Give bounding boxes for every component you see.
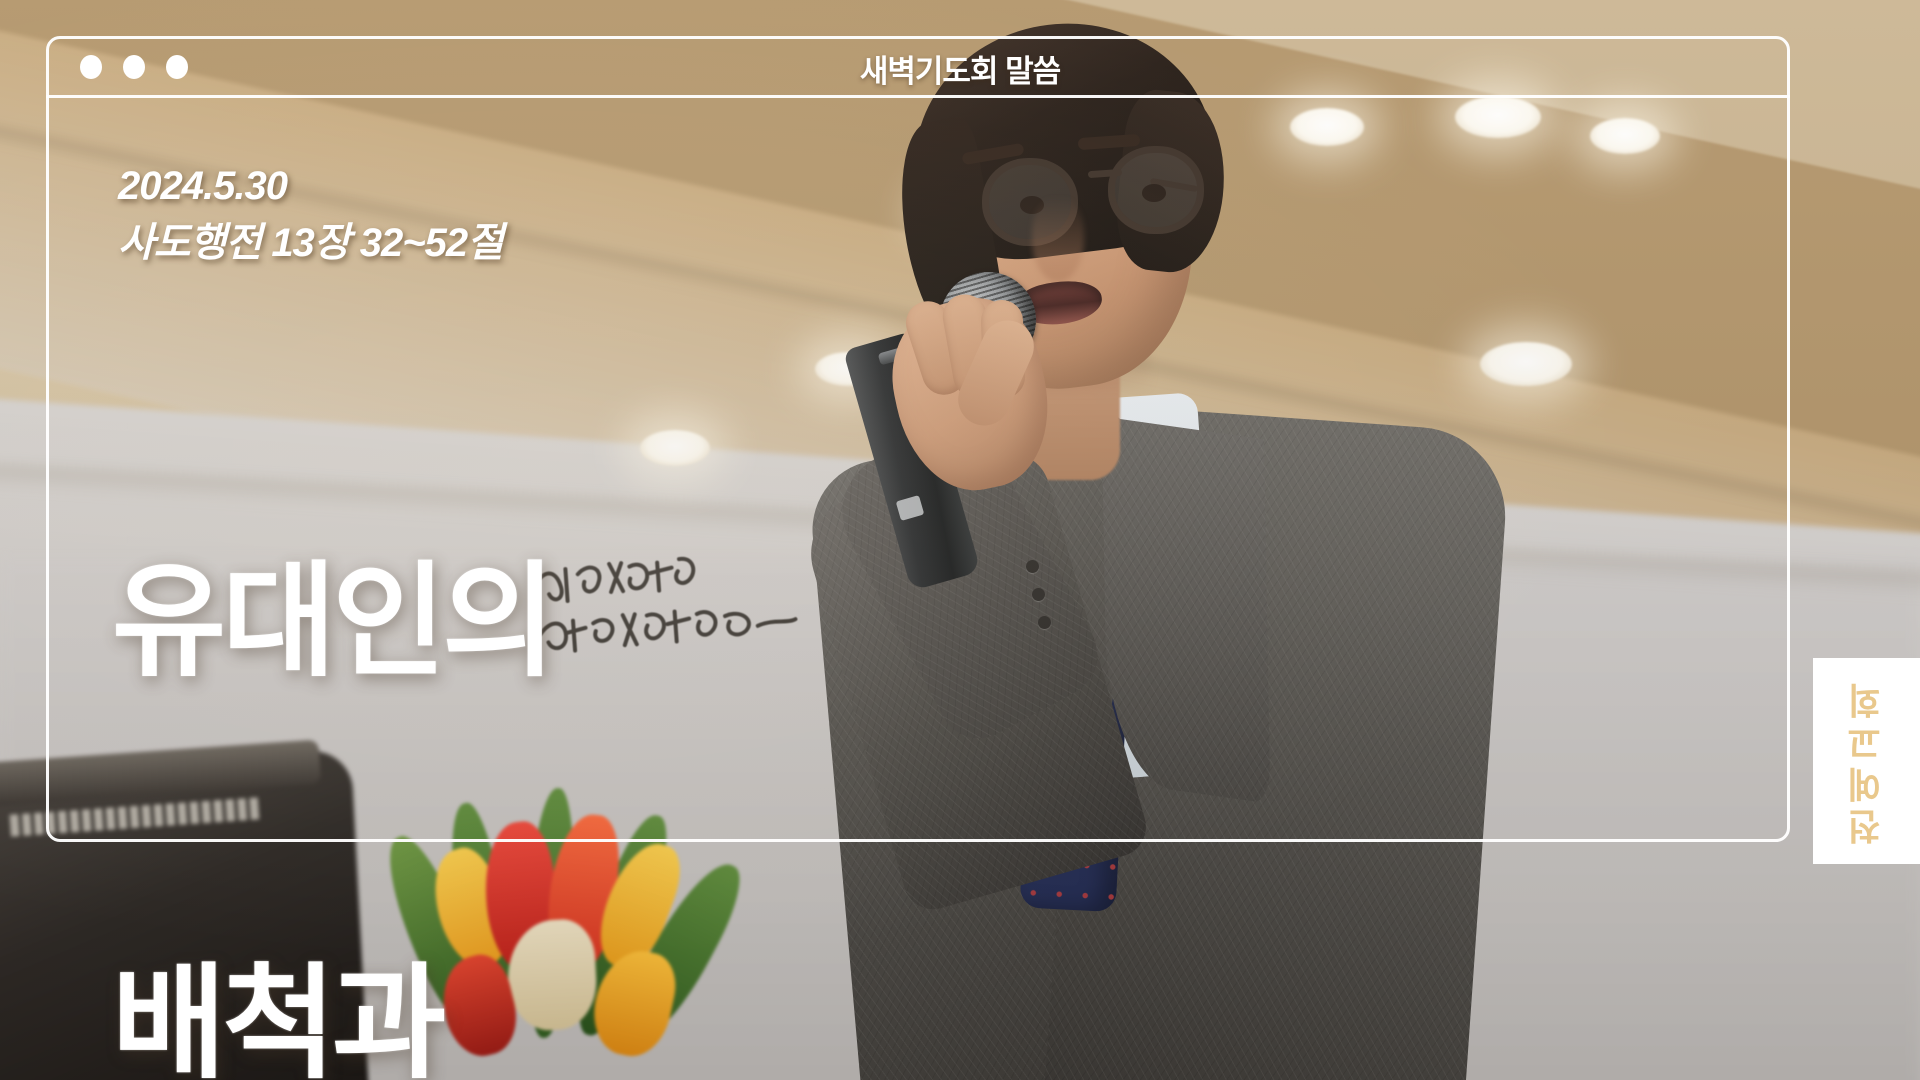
sermon-scripture: 사도행전 13장 32~52절 [118, 215, 503, 272]
headline-line-1: 유대인의 [112, 556, 803, 690]
cuff-button [1038, 616, 1051, 629]
speaker-photo [820, 0, 1580, 1080]
ceiling-light [1590, 118, 1660, 154]
cuff-button [1026, 560, 1039, 573]
window-title: 새벽기도회 말씀 [0, 46, 1920, 91]
cuff-button [1032, 588, 1045, 601]
eye-right [1142, 184, 1166, 202]
nose [1032, 196, 1084, 282]
headline-line-2: 배척과 [112, 958, 803, 1080]
sermon-headline: 유대인의 배척과 이방인의 영접 [112, 288, 803, 1080]
sermon-meta: 2024.5.30 사도행전 13장 32~52절 [118, 158, 503, 272]
slide-canvas: 새벽기도회 말씀 2024.5.30 사도행전 13장 32~52절 유대인의 … [0, 0, 1920, 1080]
church-name-label: 천예교회 [1849, 677, 1885, 845]
sermon-date: 2024.5.30 [118, 158, 503, 215]
church-badge: 천예교회 [1813, 658, 1920, 864]
